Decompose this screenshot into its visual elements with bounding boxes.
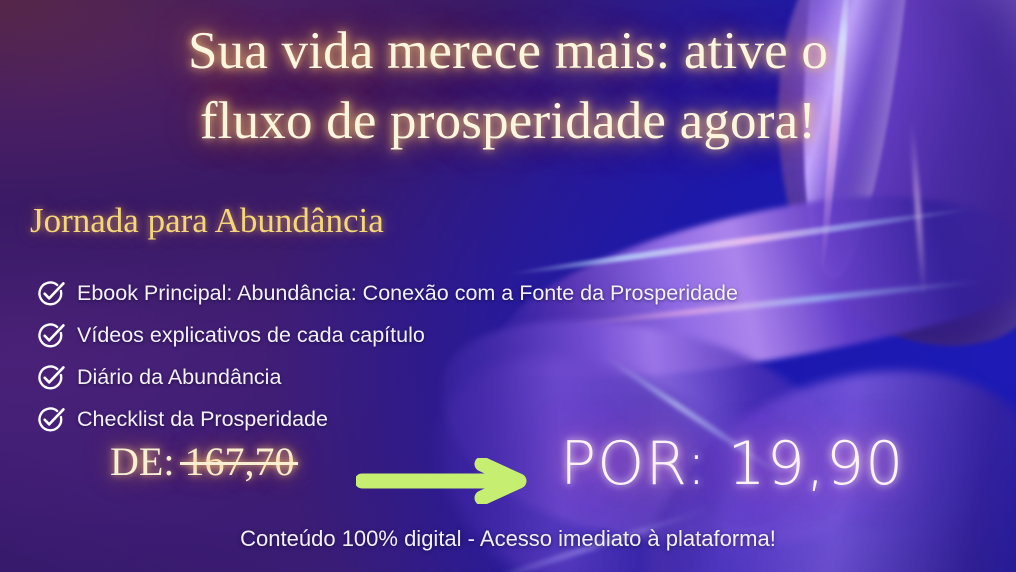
footer-note: Conteúdo 100% digital - Acesso imediato … bbox=[0, 526, 1016, 552]
list-item: Diário da Abundância bbox=[36, 356, 738, 398]
old-price-value: 167,70 bbox=[184, 439, 294, 484]
headline: Sua vida merece mais: ative o fluxo de p… bbox=[0, 16, 1016, 157]
headline-line-2: fluxo de prosperidade agora! bbox=[0, 86, 1016, 156]
product-title: Jornada para Abundância bbox=[30, 203, 384, 238]
promotional-poster: Sua vida merece mais: ative o fluxo de p… bbox=[0, 0, 1016, 572]
list-item-label: Ebook Principal: Abundância: Conexão com… bbox=[77, 281, 738, 306]
check-circle-icon bbox=[36, 321, 65, 350]
new-price: POR: 19,90 bbox=[560, 434, 904, 494]
old-price-prefix: DE: bbox=[110, 439, 184, 484]
list-item: Ebook Principal: Abundância: Conexão com… bbox=[36, 272, 738, 314]
list-item-label: Checklist da Prosperidade bbox=[77, 407, 328, 432]
old-price: DE: 167,70 bbox=[110, 442, 294, 482]
arrow-right-icon bbox=[356, 458, 536, 504]
feature-list: Ebook Principal: Abundância: Conexão com… bbox=[36, 272, 738, 440]
check-circle-icon bbox=[36, 405, 65, 434]
list-item-label: Diário da Abundância bbox=[77, 365, 281, 390]
price-row: DE: 167,70 POR: 19,90 bbox=[0, 438, 1016, 510]
list-item-label: Vídeos explicativos de cada capítulo bbox=[77, 323, 425, 348]
check-circle-icon bbox=[36, 363, 65, 392]
list-item: Vídeos explicativos de cada capítulo bbox=[36, 314, 738, 356]
headline-line-1: Sua vida merece mais: ative o bbox=[188, 22, 828, 80]
check-circle-icon bbox=[36, 279, 65, 308]
